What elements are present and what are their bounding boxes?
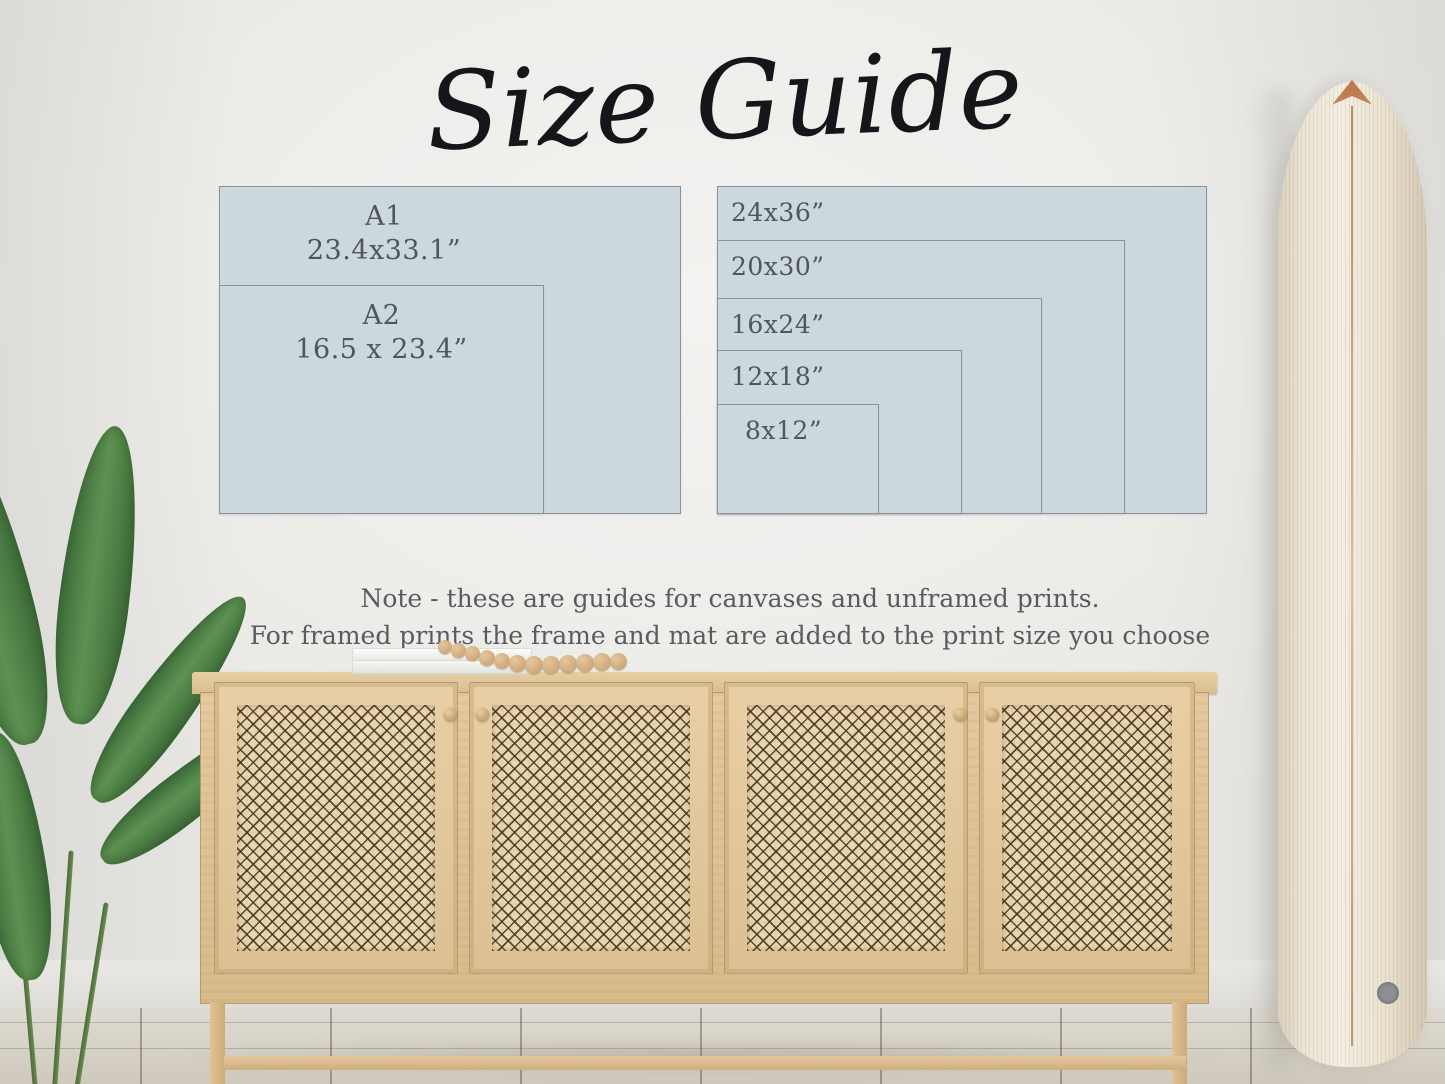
imperial-inches-chart: 24x36” 20x30” 16x24” 12x18” 8x12”: [717, 186, 1207, 514]
cabinet-door-2[interactable]: [469, 682, 713, 974]
size-dims-a1: 23.4x33.1”: [219, 234, 549, 268]
note-line-2: For framed prints the frame and mat are …: [150, 617, 1310, 654]
cabinet-door-1[interactable]: [214, 682, 458, 974]
size-guide-scene: Size Guide A1 23.4x33.1” A2 16.5 x 23.4”…: [0, 0, 1445, 1084]
guide-note: Note - these are guides for canvases and…: [150, 580, 1310, 654]
cabinet-door-3[interactable]: [724, 682, 968, 974]
leg-stretcher: [224, 1056, 1186, 1070]
cane-webbing-panel-4: [1002, 705, 1172, 951]
door-knob-4[interactable]: [986, 708, 999, 721]
surfboard-fin-plug: [1377, 982, 1399, 1004]
size-dims-a2: 16.5 x 23.4”: [219, 333, 544, 367]
door-knob-2[interactable]: [476, 708, 489, 721]
page-title: Size Guide: [453, 24, 998, 180]
door-knob-3[interactable]: [954, 708, 967, 721]
cane-webbing-panel-3: [747, 705, 945, 951]
rattan-cane-sideboard: [192, 672, 1217, 1084]
door-knob-1[interactable]: [444, 708, 457, 721]
cabinet-door-4[interactable]: [979, 682, 1195, 974]
leg-right: [1172, 1002, 1187, 1084]
surfboard-stringer: [1351, 106, 1353, 1046]
sideboard-leg-assembly: [210, 1002, 1200, 1084]
size-label-16x24: 16x24”: [731, 310, 825, 340]
size-label-24x36: 24x36”: [731, 198, 825, 228]
cane-webbing-panel-1: [237, 705, 435, 951]
size-label-20x30: 20x30”: [731, 252, 825, 282]
size-label-a1: A1 23.4x33.1”: [219, 200, 549, 268]
surfboard: [1277, 82, 1427, 1067]
size-label-a2: A2 16.5 x 23.4”: [219, 299, 544, 367]
metric-a-series-chart: A1 23.4x33.1” A2 16.5 x 23.4”: [219, 186, 681, 514]
bird-of-paradise-plant: [0, 430, 220, 1084]
cane-webbing-panel-2: [492, 705, 690, 951]
size-label-12x18: 12x18”: [731, 362, 825, 392]
leg-left: [210, 1002, 225, 1084]
size-name-a1: A1: [219, 200, 549, 234]
note-line-1: Note - these are guides for canvases and…: [150, 580, 1310, 617]
wooden-bead-garland: [438, 640, 638, 676]
size-name-a2: A2: [219, 299, 544, 333]
size-label-8x12: 8x12”: [745, 416, 822, 446]
